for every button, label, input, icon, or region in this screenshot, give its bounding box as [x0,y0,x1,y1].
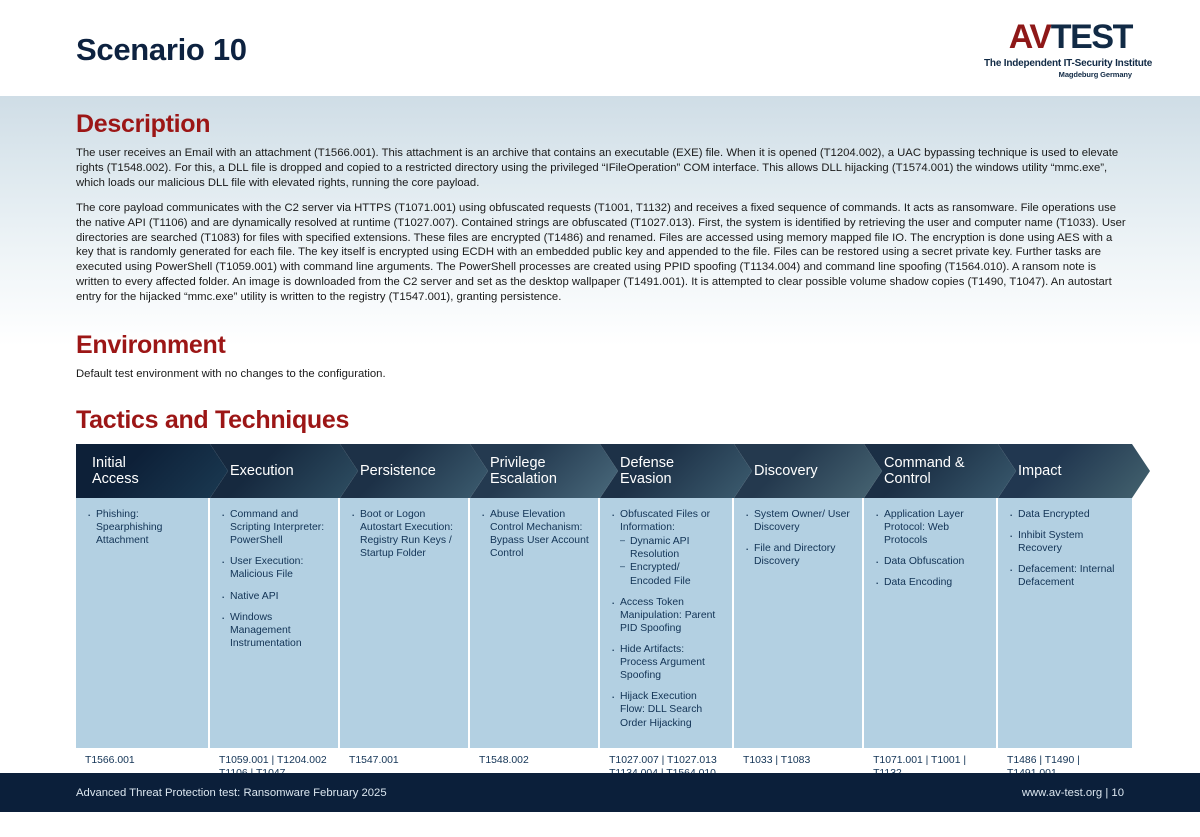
tactic-header-6: Discovery [734,444,882,498]
technique-item: Data Obfuscation [873,555,987,568]
technique-item: Abuse Elevation Control Mechanism: Bypas… [479,508,589,560]
technique-item: Windows Management Instrumentation [219,611,329,650]
technique-list: Application Layer Protocol: Web Protocol… [873,508,987,590]
technique-item: Phishing: Spearphishing Attachment [85,508,199,547]
technique-item: Obfuscated Files or Information:Dynamic … [609,508,723,588]
environment-text: Default test environment with no changes… [76,367,1132,382]
technique-item: Command and Scripting Interpreter: Power… [219,508,329,547]
technique-list: Phishing: Spearphishing Attachment [85,508,199,547]
logo-tagline: The Independent IT-Security Institute [984,57,1132,70]
technique-item: Data Encrypted [1007,508,1123,521]
technique-column-1: Phishing: Spearphishing Attachment [76,498,210,748]
technique-list: Abuse Elevation Control Mechanism: Bypas… [479,508,589,560]
page-footer: Advanced Threat Protection test: Ransomw… [0,773,1200,812]
tactic-header-7: Command & Control [864,444,1016,498]
technique-item: Inhibit System Recovery [1007,529,1123,555]
page-title: Scenario 10 [76,32,247,68]
technique-item: Hide Artifacts: Process Argument Spoofin… [609,643,723,682]
technique-item: Boot or Logon Autostart Execution: Regis… [349,508,459,560]
technique-item: Application Layer Protocol: Web Protocol… [873,508,987,547]
description-paragraph-2: The core payload communicates with the C… [76,201,1132,305]
tactic-header-3: Persistence [340,444,488,498]
av-test-logo: AVTEST The Independent IT-Security Insti… [984,20,1132,80]
technique-item: User Execution: Malicious File [219,555,329,581]
tactics-heading: Tactics and Techniques [76,406,1132,435]
technique-list: Command and Scripting Interpreter: Power… [219,508,329,650]
technique-list: System Owner/ User DiscoveryFile and Dir… [743,508,853,568]
technique-item: System Owner/ User Discovery [743,508,853,534]
sub-technique-item: Encrypted/ Encoded File [620,561,723,587]
technique-column-2: Command and Scripting Interpreter: Power… [210,498,340,748]
technique-column-8: Data EncryptedInhibit System RecoveryDef… [998,498,1132,748]
technique-list: Obfuscated Files or Information:Dynamic … [609,508,723,730]
tactic-header-5: Defense Evasion [600,444,752,498]
tactics-chevron-header-row: Initial AccessExecutionPersistencePrivil… [76,444,1132,498]
tactic-header-1: Initial Access [76,444,228,498]
description-paragraph-1: The user receives an Email with an attac… [76,146,1132,191]
tactic-header-8: Impact [998,444,1150,498]
logo-location: Magdeburg Germany [984,70,1132,80]
tactics-technique-row: Phishing: Spearphishing AttachmentComman… [76,498,1132,748]
technique-item: Data Encoding [873,576,987,589]
technique-item: Native API [219,590,329,603]
tactic-header-label: Initial Access [76,455,139,487]
technique-column-3: Boot or Logon Autostart Execution: Regis… [340,498,470,748]
technique-list: Boot or Logon Autostart Execution: Regis… [349,508,459,560]
page-header: Scenario 10 AVTEST The Independent IT-Se… [0,0,1200,96]
document-page: Scenario 10 AVTEST The Independent IT-Se… [0,0,1200,837]
logo-wordmark: AVTEST [984,20,1132,54]
technique-item: File and Directory Discovery [743,542,853,568]
footer-url-page: www.av-test.org | 10 [1022,787,1124,799]
technique-column-4: Abuse Elevation Control Mechanism: Bypas… [470,498,600,748]
technique-column-5: Obfuscated Files or Information:Dynamic … [600,498,734,748]
technique-item: Access Token Manipulation: Parent PID Sp… [609,596,723,635]
description-heading: Description [76,110,1132,139]
technique-item: Hijack Execution Flow: DLL Search Order … [609,690,723,729]
tactics-table: Initial AccessExecutionPersistencePrivil… [76,444,1132,802]
technique-item: Defacement: Internal Defacement [1007,563,1123,589]
tactic-header-2: Execution [210,444,358,498]
technique-list: Data EncryptedInhibit System RecoveryDef… [1007,508,1123,590]
page-content: Description The user receives an Email w… [76,110,1132,802]
technique-column-6: System Owner/ User DiscoveryFile and Dir… [734,498,864,748]
sub-technique-item: Dynamic API Resolution [620,535,723,561]
technique-column-7: Application Layer Protocol: Web Protocol… [864,498,998,748]
environment-heading: Environment [76,331,1132,360]
tactic-header-4: Privilege Escalation [470,444,618,498]
logo-test-text: TEST [1051,18,1132,56]
footer-test-name: Advanced Threat Protection test: Ransomw… [76,787,387,799]
sub-technique-list: Dynamic API ResolutionEncrypted/ Encoded… [620,535,723,587]
logo-av-text: AV [1009,18,1051,56]
